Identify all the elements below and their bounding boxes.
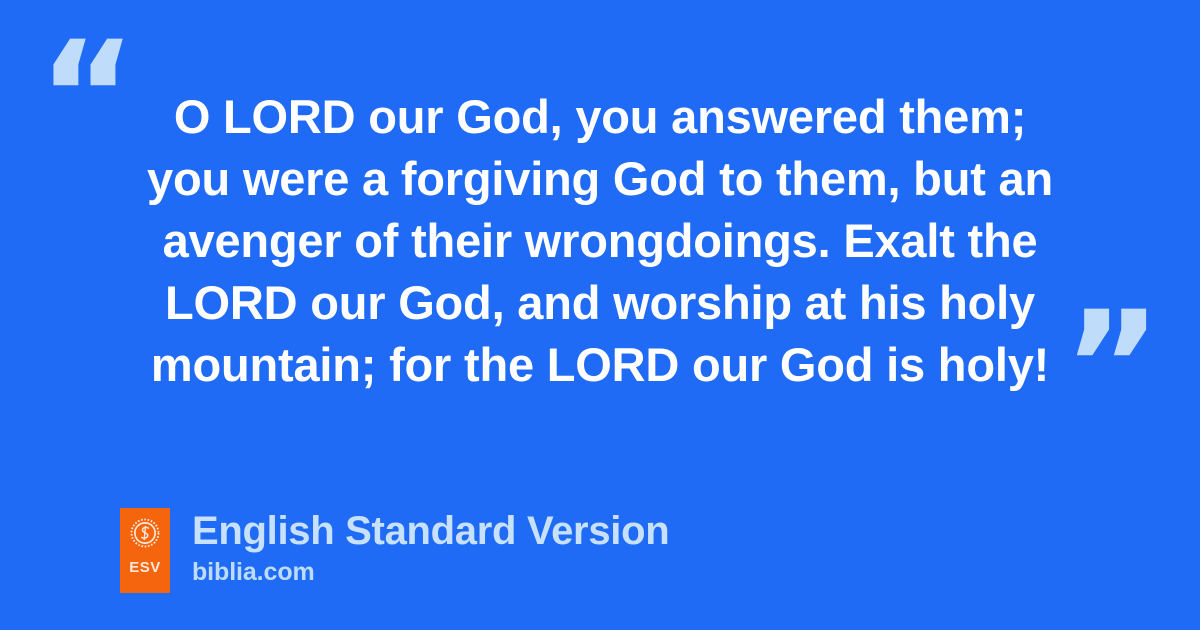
seal-icon xyxy=(130,518,160,548)
quote-line: avenger of their wrongdoings. Exalt the xyxy=(60,210,1140,272)
quote-line: LORD our God, and worship at his holy xyxy=(60,272,1140,334)
quote-line: you were a forgiving God to them, but an xyxy=(60,148,1140,210)
attribution-text: English Standard Version biblia.com xyxy=(192,508,669,587)
bible-version-name: English Standard Version xyxy=(192,508,669,554)
attribution-block: ESV English Standard Version biblia.com xyxy=(120,508,669,593)
verse-card: “ O LORD our God, you answered them; you… xyxy=(0,0,1200,630)
site-url-label: biblia.com xyxy=(192,558,669,587)
esv-logo-badge: ESV xyxy=(120,508,170,593)
esv-abbreviation-label: ESV xyxy=(129,560,161,575)
quote-line: O LORD our God, you answered them; xyxy=(60,86,1140,148)
quote-text: O LORD our God, you answered them; you w… xyxy=(60,86,1140,396)
quote-line: mountain; for the LORD our God is holy! xyxy=(60,334,1140,396)
close-quote-icon: ” xyxy=(1063,292,1162,442)
